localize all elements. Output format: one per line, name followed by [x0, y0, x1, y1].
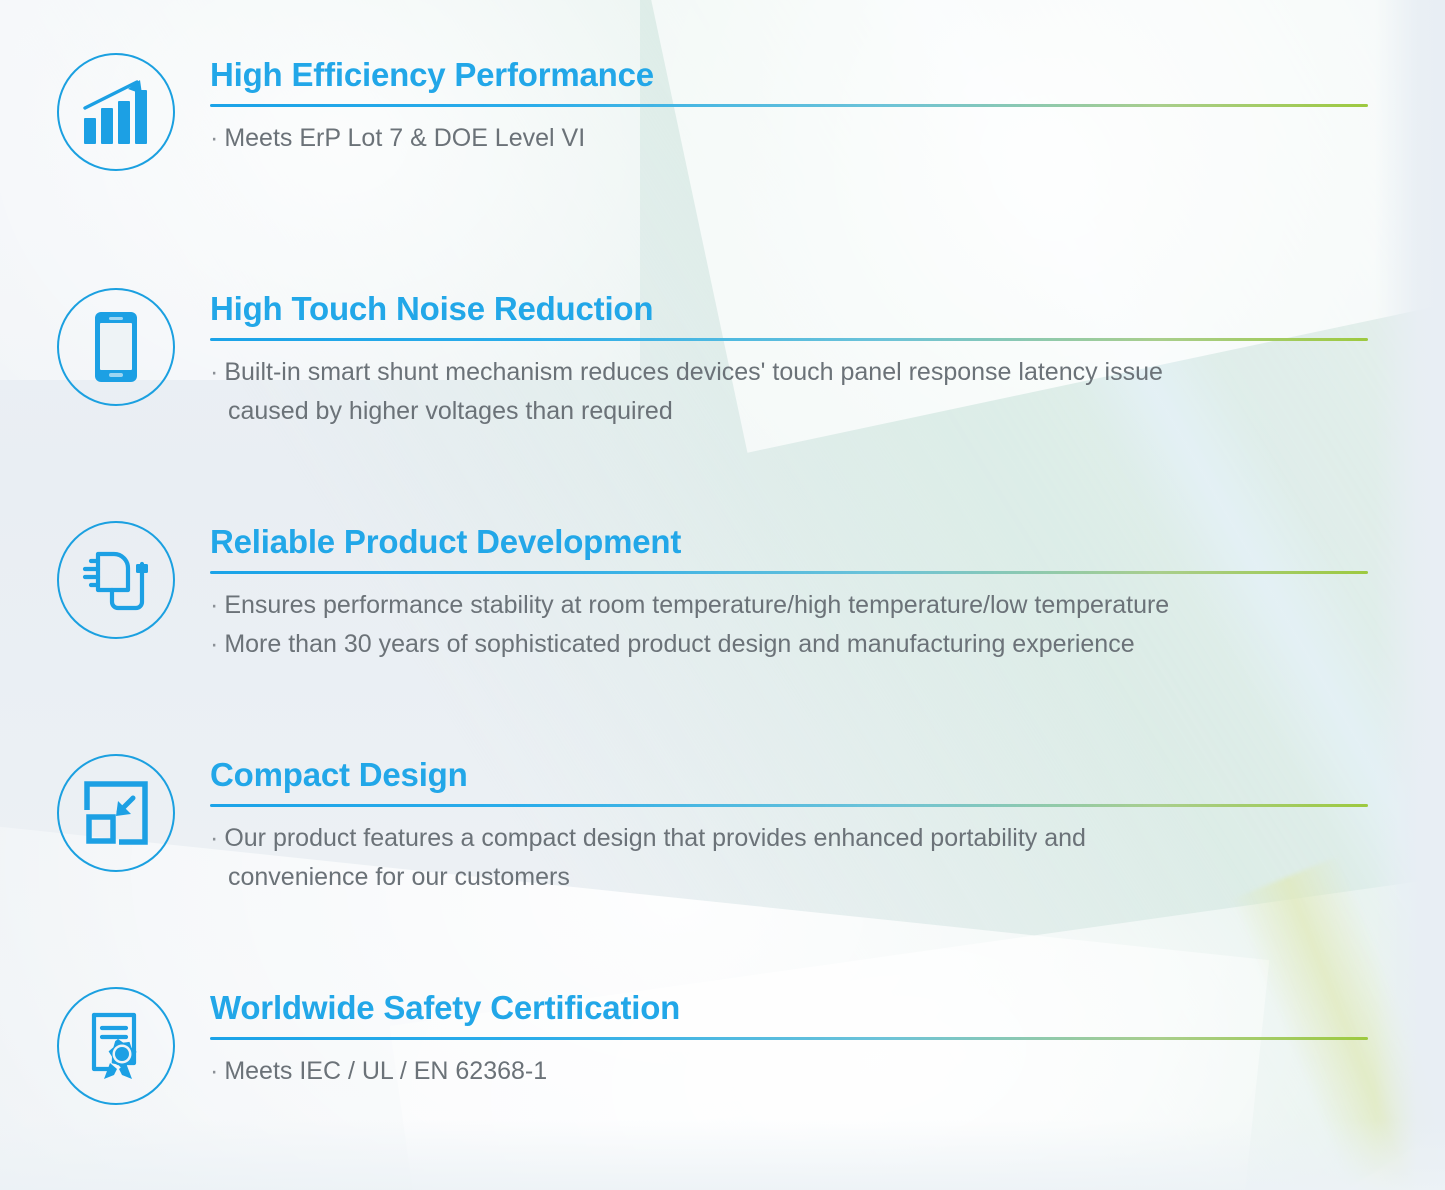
feature-body: Worldwide Safety Certification ·Meets IE…: [210, 988, 1368, 1091]
feature-divider: [210, 338, 1368, 341]
bullet-line: ·Built-in smart shunt mechanism reduces …: [210, 353, 1368, 392]
feature-divider: [210, 571, 1368, 574]
bullet-text: Built-in smart shunt mechanism reduces d…: [224, 358, 1163, 386]
bullet-line: ·Meets ErP Lot 7 & DOE Level VI: [210, 119, 1368, 158]
bullet-text: Meets ErP Lot 7 & DOE Level VI: [224, 124, 585, 152]
bullet-text: Our product features a compact design th…: [224, 824, 1086, 852]
power-adapter-icon: [57, 521, 175, 639]
feature-highlights-page: High Efficiency Performance ·Meets ErP L…: [0, 0, 1445, 1190]
bullet-line: ·Meets IEC / UL / EN 62368-1: [210, 1052, 1368, 1091]
feature-divider: [210, 1037, 1368, 1040]
certificate-award-icon: [57, 987, 175, 1105]
bullet-marker: ·: [210, 824, 218, 852]
bullet-line-continuation: convenience for our customers: [210, 858, 1368, 897]
feature-title: Compact Design: [210, 755, 1368, 795]
feature-body: High Efficiency Performance ·Meets ErP L…: [210, 55, 1368, 158]
bullet-text: Ensures performance stability at room te…: [224, 591, 1169, 619]
feature-divider: [210, 804, 1368, 807]
bullet-text: More than 30 years of sophisticated prod…: [224, 630, 1134, 658]
bullet-line: ·More than 30 years of sophisticated pro…: [210, 625, 1368, 664]
bullet-marker: ·: [210, 1057, 218, 1085]
bullet-line-continuation: caused by higher voltages than required: [210, 392, 1368, 431]
feature-divider: [210, 104, 1368, 107]
bullet-marker: ·: [210, 630, 218, 658]
feature-bullets: ·Meets ErP Lot 7 & DOE Level VI: [210, 119, 1368, 158]
feature-list: High Efficiency Performance ·Meets ErP L…: [0, 0, 1445, 1190]
bar-chart-growth-icon: [57, 53, 175, 171]
feature-bullets: ·Ensures performance stability at room t…: [210, 586, 1368, 664]
feature-bullets: ·Meets IEC / UL / EN 62368-1: [210, 1052, 1368, 1091]
feature-bullets: ·Built-in smart shunt mechanism reduces …: [210, 353, 1368, 431]
feature-bullets: ·Our product features a compact design t…: [210, 819, 1368, 897]
feature-title: High Efficiency Performance: [210, 55, 1368, 95]
feature-title: Reliable Product Development: [210, 522, 1368, 562]
bullet-line: ·Our product features a compact design t…: [210, 819, 1368, 858]
bullet-marker: ·: [210, 124, 218, 152]
feature-title: High Touch Noise Reduction: [210, 289, 1368, 329]
feature-title: Worldwide Safety Certification: [210, 988, 1368, 1028]
bullet-text: Meets IEC / UL / EN 62368-1: [224, 1057, 547, 1085]
bullet-marker: ·: [210, 358, 218, 386]
compact-resize-icon: [57, 754, 175, 872]
feature-body: Reliable Product Development ·Ensures pe…: [210, 522, 1368, 664]
bullet-line: ·Ensures performance stability at room t…: [210, 586, 1368, 625]
smartphone-icon: [57, 288, 175, 406]
feature-body: Compact Design ·Our product features a c…: [210, 755, 1368, 897]
bullet-marker: ·: [210, 591, 218, 619]
feature-body: High Touch Noise Reduction ·Built-in sma…: [210, 289, 1368, 431]
